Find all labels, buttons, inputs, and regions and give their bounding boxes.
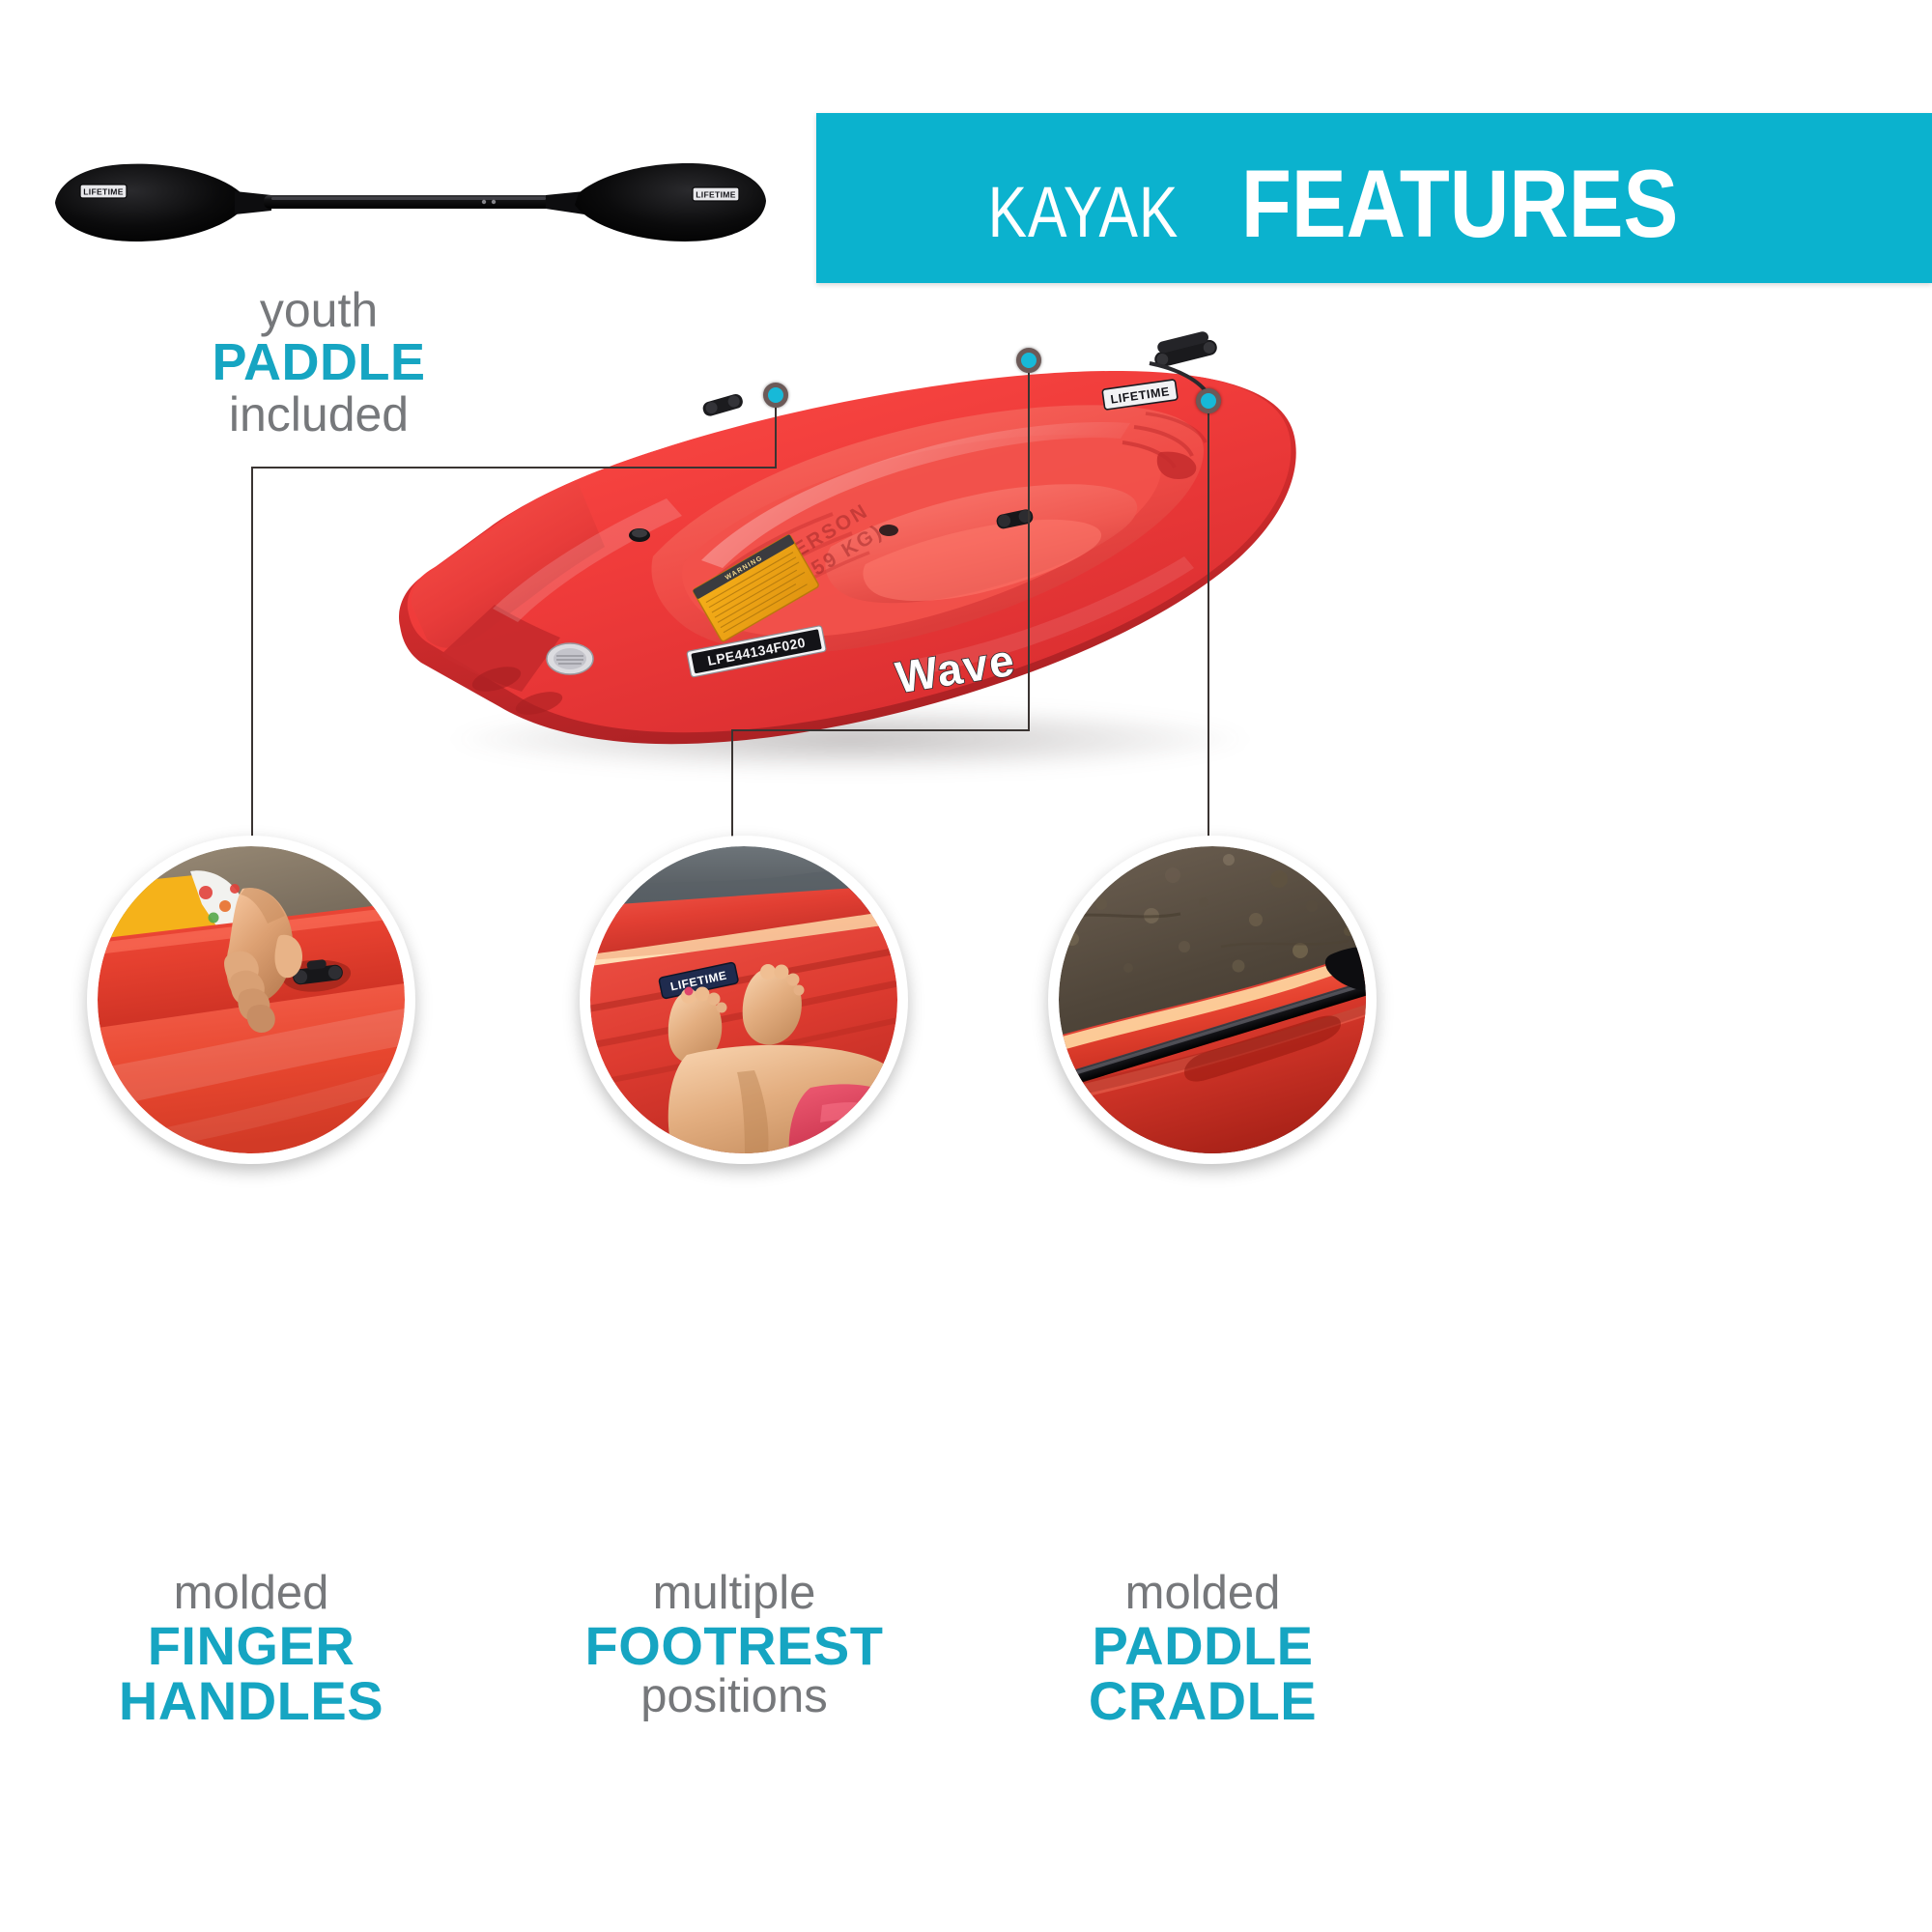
page-title-light: KAYAK xyxy=(988,171,1179,253)
finger-handles-photo xyxy=(98,846,405,1153)
feature-caption-footrest-line1: multiple xyxy=(512,1570,956,1618)
paddle-brand-tag-right: LIFETIME xyxy=(693,187,739,201)
kayak-features-infographic: KAYAK FEATURES xyxy=(0,0,1932,1932)
feature-caption-paddle-cradle-line1: molded xyxy=(980,1570,1425,1618)
leader-footrest-seg1 xyxy=(1028,371,1030,729)
feature-caption-paddle-cradle-line3: CRADLE xyxy=(980,1673,1425,1728)
callout-dot-finger-handles[interactable] xyxy=(763,383,788,408)
leader-paddle-cradle-seg1 xyxy=(1207,412,1209,855)
feature-caption-footrest-line3: positions xyxy=(512,1673,956,1721)
leader-finger-handles-seg2 xyxy=(251,467,777,469)
paddle-brand-tag-left: LIFETIME xyxy=(80,185,127,198)
footrest-photo: LIFETIME xyxy=(590,846,897,1153)
certification-decal xyxy=(547,643,593,674)
callout-dot-paddle-cradle[interactable] xyxy=(1196,388,1221,413)
feature-caption-finger-handles-line2: FINGER xyxy=(29,1618,473,1673)
leader-finger-handles-seg3 xyxy=(251,467,253,855)
header-banner: KAYAK FEATURES xyxy=(816,113,1932,283)
feature-caption-paddle-cradle-line2: PADDLE xyxy=(980,1618,1425,1673)
feature-caption-footrest-line2: FOOTREST xyxy=(512,1618,956,1673)
feature-caption-finger-handles-line1: molded xyxy=(29,1570,473,1618)
leader-footrest-seg2 xyxy=(731,729,1030,731)
feature-caption-finger-handles-line3: HANDLES xyxy=(29,1673,473,1728)
svg-text:LIFETIME: LIFETIME xyxy=(696,190,736,200)
feature-caption-footrest: multiple FOOTREST positions xyxy=(512,1570,956,1721)
callout-dot-footrest[interactable] xyxy=(1016,348,1041,373)
feature-caption-finger-handles: molded FINGER HANDLES xyxy=(29,1570,473,1728)
feature-caption-paddle-cradle: molded PADDLE CRADLE xyxy=(980,1570,1425,1728)
leader-finger-handles-seg1 xyxy=(775,406,777,467)
feature-photo-footrest[interactable]: LIFETIME xyxy=(580,836,908,1164)
page-title: KAYAK FEATURES xyxy=(967,149,1781,259)
svg-text:LIFETIME: LIFETIME xyxy=(83,187,124,197)
page-title-bold: FEATURES xyxy=(1241,149,1679,259)
youth-paddle-image: LIFETIME LIFETIME xyxy=(43,145,778,270)
feature-photo-finger-handles[interactable] xyxy=(87,836,415,1164)
kayak-paddle-icon: LIFETIME LIFETIME xyxy=(43,145,778,270)
paddle-cradle-photo xyxy=(1059,846,1366,1153)
feature-photo-paddle-cradle[interactable] xyxy=(1048,836,1377,1164)
